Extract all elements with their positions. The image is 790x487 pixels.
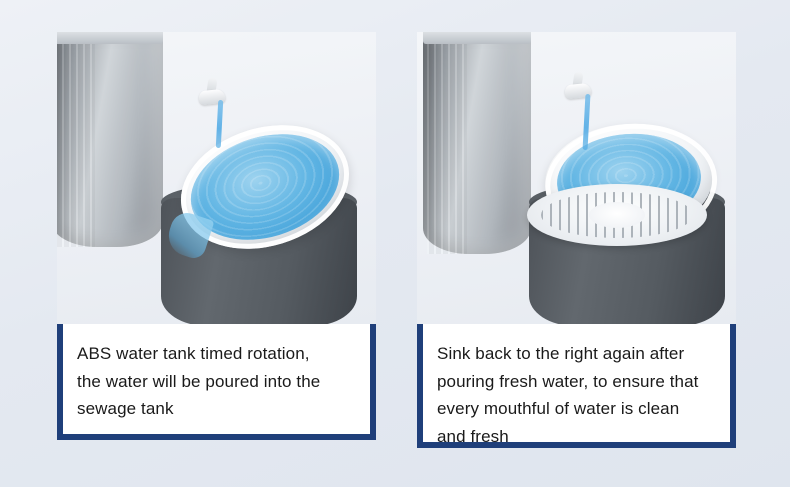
caption-card-right: Sink back to the right again after pouri…	[417, 324, 736, 448]
tank-top-cap	[57, 32, 163, 44]
sewage-tank	[57, 32, 163, 247]
caption-line: sewage tank	[77, 395, 356, 423]
caption-line: pouring fresh water, to ensure that	[437, 368, 716, 396]
feature-panel-left: ABS water tank timed rotation, the water…	[0, 0, 395, 487]
product-photo-right	[417, 32, 736, 324]
product-photo-left	[57, 32, 376, 324]
drinking-grille-lid	[527, 184, 707, 246]
product-feature-poster: ABS water tank timed rotation, the water…	[0, 0, 790, 487]
tank-ribs	[427, 32, 467, 254]
caption-line: ABS water tank timed rotation,	[77, 340, 356, 368]
grille-center	[589, 202, 645, 228]
panel-row: ABS water tank timed rotation, the water…	[0, 0, 790, 487]
caption-line: the water will be poured into the	[77, 368, 356, 396]
caption-card-left: ABS water tank timed rotation, the water…	[57, 324, 376, 440]
caption-line: Sink back to the right again after	[437, 340, 716, 368]
feature-panel-right: Sink back to the right again after pouri…	[395, 0, 790, 487]
caption-line: and fresh	[437, 423, 716, 451]
tank-top-cap	[423, 32, 531, 44]
sewage-tank	[423, 32, 531, 254]
caption-line: every mouthful of water is clean	[437, 395, 716, 423]
tank-ribs	[57, 32, 95, 247]
